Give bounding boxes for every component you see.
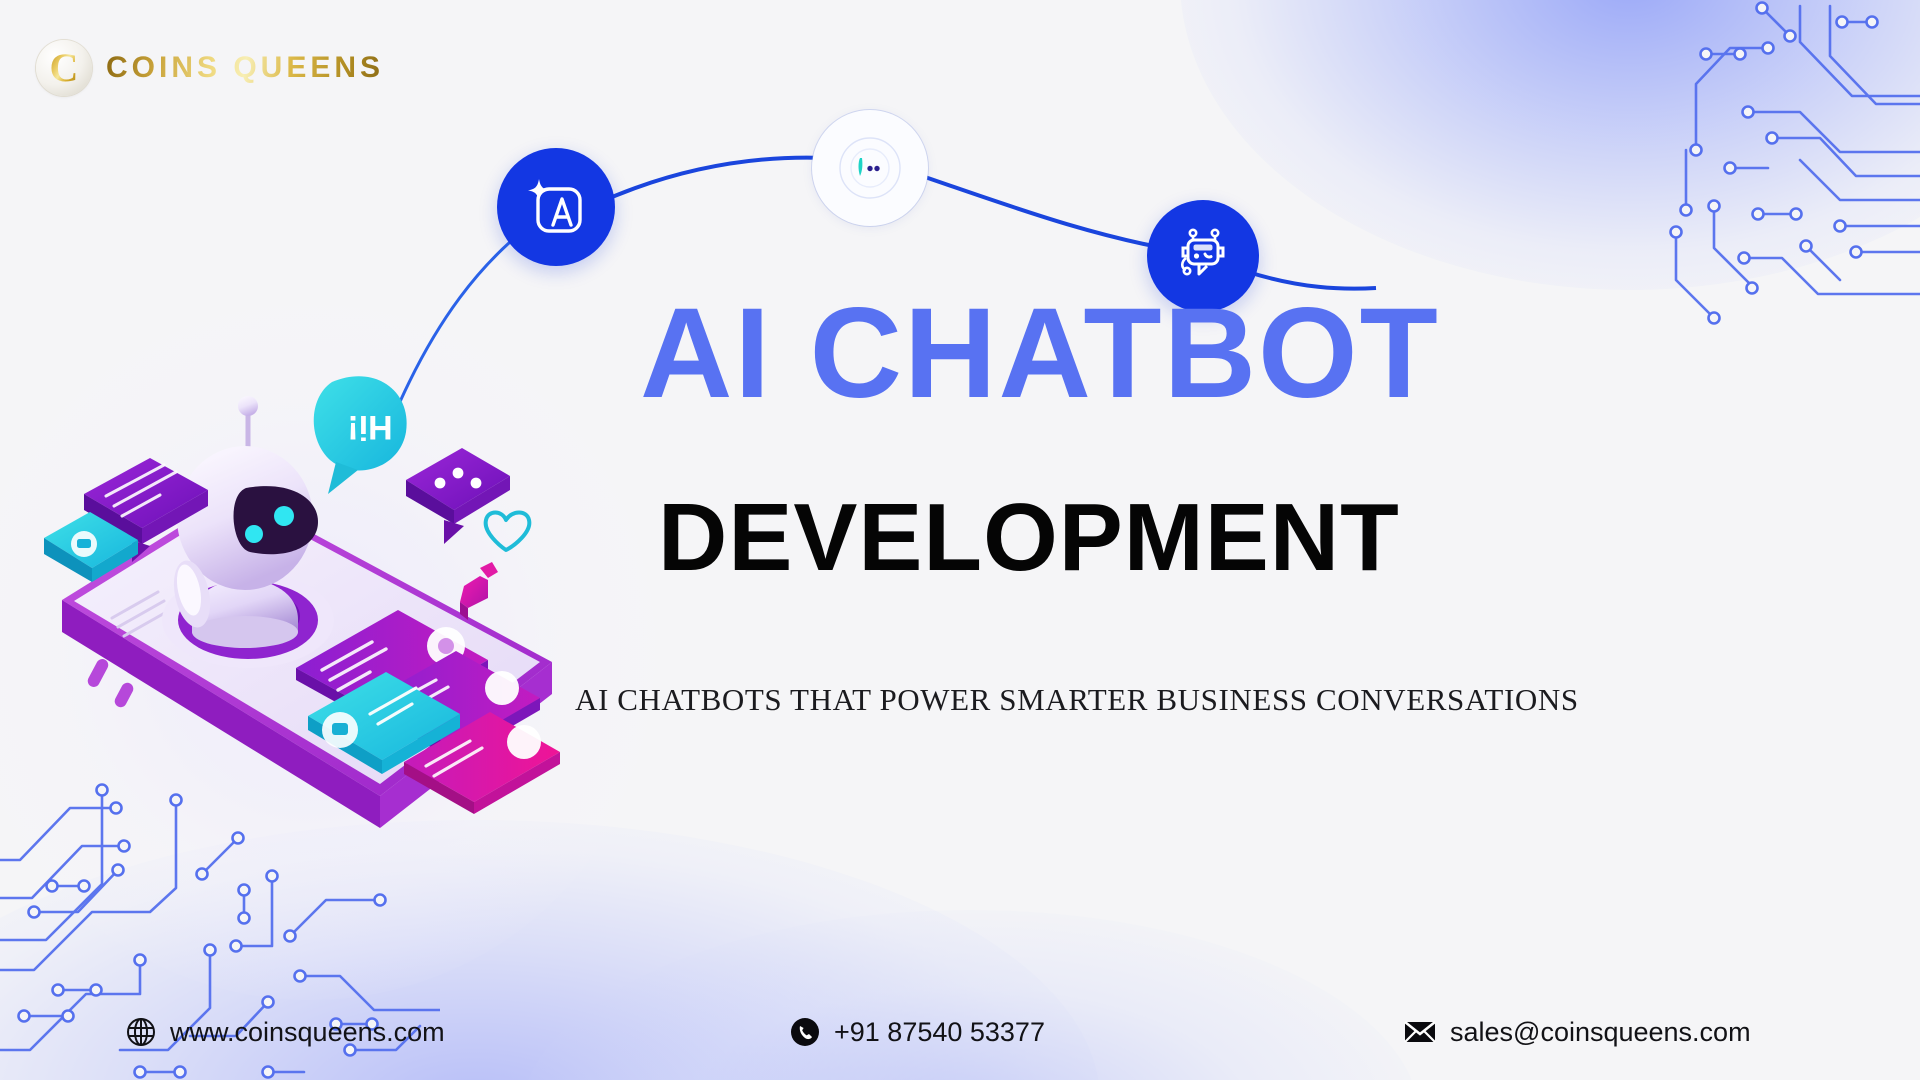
contact-phone[interactable]: +91 87540 53377: [790, 1017, 1045, 1048]
chat-bubble-dots-icon[interactable]: [812, 110, 928, 226]
background-glow-top-right: [1180, 0, 1920, 290]
isometric-robot-on-smartphone: Hi!: [40, 370, 600, 870]
sparkle-letter-a-icon[interactable]: [497, 148, 615, 266]
globe-icon: [126, 1017, 156, 1047]
page-title: AI CHATBOT: [640, 290, 1900, 418]
chat-bubble-dots-glyph: [838, 136, 902, 200]
hero-tagline: AI CHATBOTS THAT POWER SMARTER BUSINESS …: [575, 682, 1900, 718]
envelope-icon: [1404, 1020, 1436, 1044]
coin-letter: C: [50, 48, 79, 88]
robot-face-glyph: [1169, 222, 1237, 290]
coin-c-icon: C: [36, 40, 92, 96]
brand-logo[interactable]: C COINS QUEENS: [36, 40, 384, 96]
website-text: www.coinsqueens.com: [170, 1017, 445, 1048]
hero-text-block: AI CHATBOT DEVELOPMENT AI CHATBOTS THAT …: [640, 290, 1900, 718]
footer-contact-bar: www.coinsqueens.com +91 87540 53377 sale…: [0, 984, 1920, 1080]
phone-icon: [790, 1017, 820, 1047]
email-text: sales@coinsqueens.com: [1450, 1017, 1751, 1048]
poster-canvas: C COINS QUEENS: [0, 0, 1920, 1080]
phone-text: +91 87540 53377: [834, 1017, 1045, 1048]
speech-bubble-text: Hi!: [347, 408, 392, 446]
page-subtitle: DEVELOPMENT: [658, 490, 1900, 586]
contact-website[interactable]: www.coinsqueens.com: [126, 1017, 445, 1048]
brand-name: COINS QUEENS: [106, 51, 384, 85]
sparkle-letter-a-glyph: [522, 173, 590, 241]
robot-character: [168, 396, 318, 648]
contact-email[interactable]: sales@coinsqueens.com: [1404, 1017, 1751, 1048]
circuit-decoration-top-right: [1500, 0, 1920, 330]
